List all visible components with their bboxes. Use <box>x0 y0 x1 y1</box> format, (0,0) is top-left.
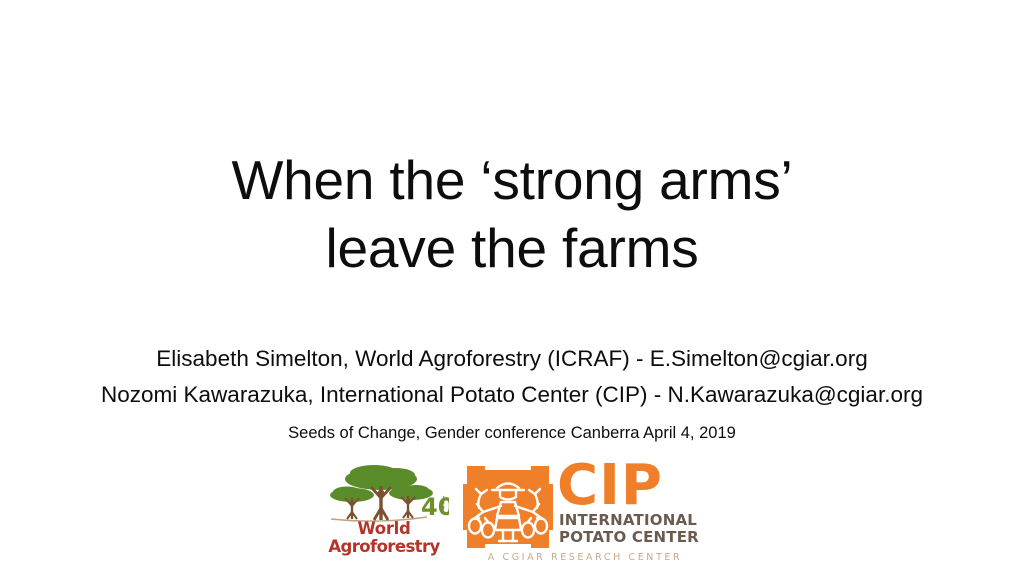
international-potato-center-logo: CIP INTERNATIONAL POTATO CENTER A CGIAR … <box>457 462 705 566</box>
icraf-word-line-1: World <box>319 520 449 538</box>
cip-name-line-1: INTERNATIONAL <box>559 512 699 529</box>
cip-acronym-wordmark: CIP <box>557 458 663 514</box>
author-line-1: Elisabeth Simelton, World Agroforestry (… <box>0 341 1024 377</box>
slide-title: When the ‘strong arms’ leave the farms <box>0 146 1024 282</box>
author-line-2: Nozomi Kawarazuka, International Potato … <box>0 377 1024 413</box>
anniversary-40-icon: 40 <box>421 493 449 521</box>
author-list: Elisabeth Simelton, World Agroforestry (… <box>0 341 1024 413</box>
cip-name-line-2: POTATO CENTER <box>559 529 699 546</box>
cip-full-name: INTERNATIONAL POTATO CENTER <box>559 512 699 546</box>
world-agroforestry-logo: 40 World Agroforestry <box>319 462 449 566</box>
icraf-word-line-2: Agroforestry <box>319 538 449 556</box>
world-agroforestry-wordmark: World Agroforestry <box>319 520 449 556</box>
title-line-2: leave the farms <box>0 214 1024 282</box>
cip-farmer-emblem-icon <box>461 464 555 552</box>
title-line-1: When the ‘strong arms’ <box>0 146 1024 214</box>
acacia-trees-icon: 40 <box>319 462 449 526</box>
logo-row: 40 World Agroforestry <box>0 462 1024 572</box>
conference-subtitle: Seeds of Change, Gender conference Canbe… <box>0 420 1024 446</box>
cgiar-tagline: A CGIAR RESEARCH CENTER <box>465 552 705 564</box>
presentation-slide: When the ‘strong arms’ leave the farms E… <box>0 0 1024 576</box>
